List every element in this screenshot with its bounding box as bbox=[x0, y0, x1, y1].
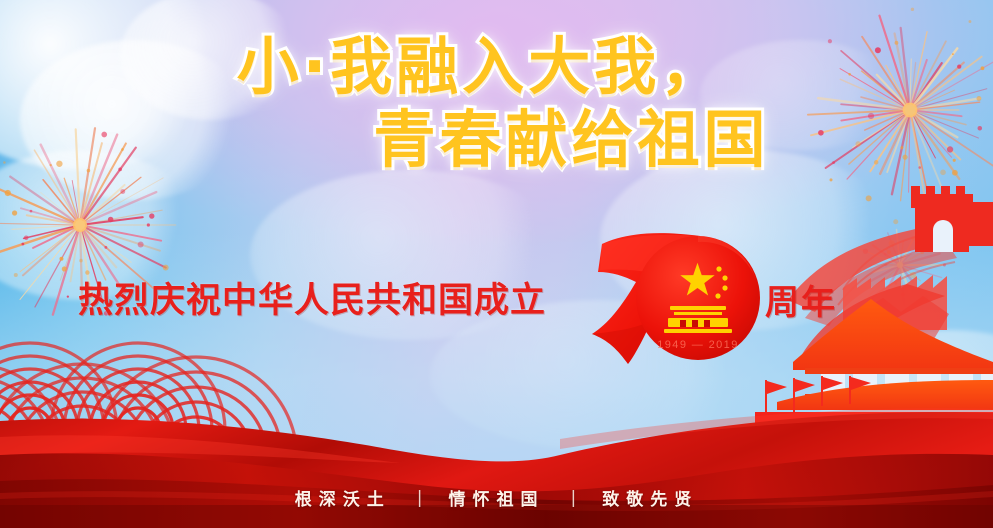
headline: 小·我融入大我， 青春献给祖国 bbox=[0, 30, 993, 176]
year-range-label: 1949 — 2019 bbox=[657, 339, 738, 351]
headline-line-1: 小·我融入大我， bbox=[0, 30, 993, 103]
footer-item-1: 根深沃土 bbox=[295, 485, 391, 510]
footer-item-2: 情怀祖国 bbox=[449, 485, 545, 510]
subtitle-text: 热烈庆祝中华人民共和国成立 bbox=[78, 272, 546, 323]
great-wall-tower-icon bbox=[911, 186, 993, 252]
zero-disc-icon: 1949 — 2019 bbox=[636, 236, 760, 360]
anniversary-70-emblem: 1949 — 2019 bbox=[588, 228, 788, 368]
footer-separator: | bbox=[417, 488, 423, 508]
headline-line-2: 青春献给祖国 bbox=[150, 103, 993, 176]
footer-separator: | bbox=[571, 488, 577, 508]
footer-bar: 根深沃土 | 情怀祖国 | 致敬先贤 bbox=[0, 485, 993, 510]
celebration-poster: 1949 — 2019 bbox=[0, 0, 993, 528]
footer-item-3: 致敬先贤 bbox=[602, 485, 698, 510]
anniversary-suffix-label: 周年 bbox=[765, 275, 837, 324]
